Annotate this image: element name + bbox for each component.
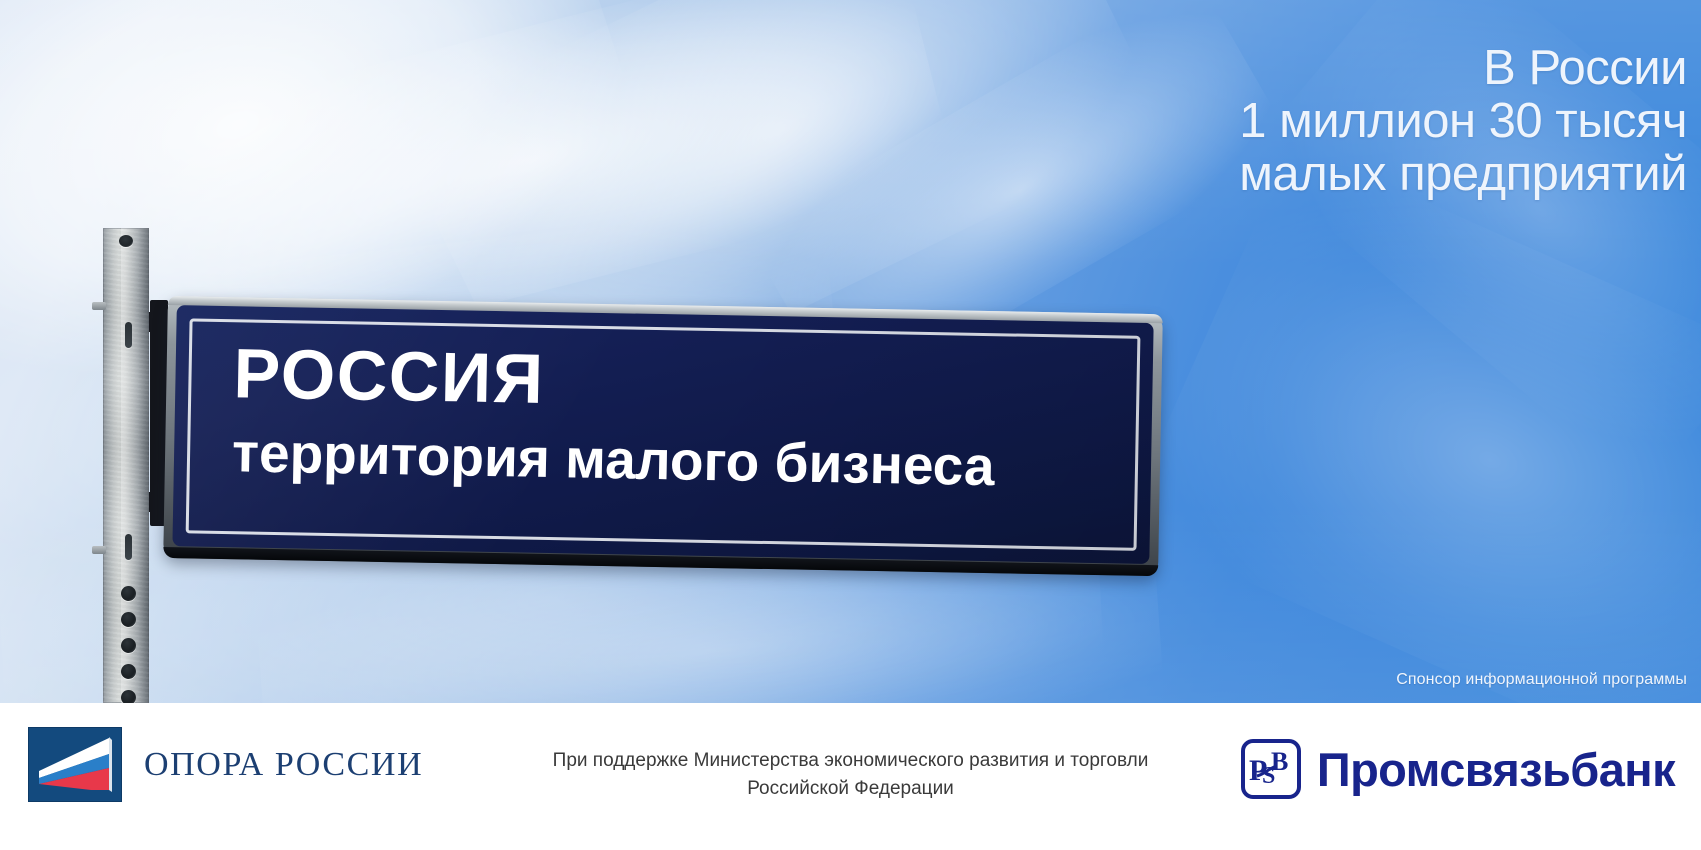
- pole-top-hole: [119, 235, 133, 247]
- pole-front-face: [121, 228, 149, 703]
- ministry-support-line-1: При поддержке Министерства экономическог…: [471, 747, 1231, 775]
- headline-line-1: В России: [927, 42, 1687, 95]
- headline-block: В России 1 миллион 30 тысяч малых предпр…: [927, 42, 1687, 201]
- promsvyazbank-logo[interactable]: P S B Промсвязьбанк: [1241, 739, 1675, 799]
- sponsor-note: Спонсор информационной программы: [1396, 671, 1687, 689]
- pole-side-nub: [92, 546, 106, 554]
- pole-side-nub: [92, 302, 106, 310]
- promsvyazbank-wordmark: Промсвязьбанк: [1317, 742, 1675, 797]
- ministry-support-line-2: Российской Федерации: [471, 775, 1231, 803]
- opora-rossii-wordmark: ОПОРА РОССИИ: [144, 746, 423, 784]
- headline-line-2: 1 миллион 30 тысяч: [927, 95, 1687, 148]
- ministry-support-text: При поддержке Министерства экономическог…: [471, 747, 1231, 803]
- sign-text-block: РОССИЯ территория малого бизнеса: [232, 334, 1114, 500]
- headline-line-3: малых предприятий: [927, 148, 1687, 201]
- pole-slot: [125, 322, 132, 348]
- svg-text:B: B: [1271, 747, 1288, 776]
- pole-hole: [121, 612, 136, 627]
- sign-title: РОССИЯ: [233, 334, 1113, 428]
- opora-flag-icon: [28, 727, 122, 802]
- street-sign: РОССИЯ территория малого бизнеса: [163, 296, 1163, 576]
- opora-rossii-logo[interactable]: ОПОРА РОССИИ: [28, 727, 423, 802]
- pole-hole: [121, 664, 136, 679]
- pole-slot: [125, 534, 132, 560]
- poster-root: В России 1 миллион 30 тысяч малых предпр…: [0, 0, 1701, 850]
- sign-face: РОССИЯ территория малого бизнеса: [172, 305, 1153, 564]
- footer-bar: ОПОРА РОССИИ При поддержке Министерства …: [0, 703, 1701, 850]
- pole-hole: [121, 586, 136, 601]
- psb-monogram-icon: P S B: [1241, 739, 1301, 799]
- pole-hole: [121, 638, 136, 653]
